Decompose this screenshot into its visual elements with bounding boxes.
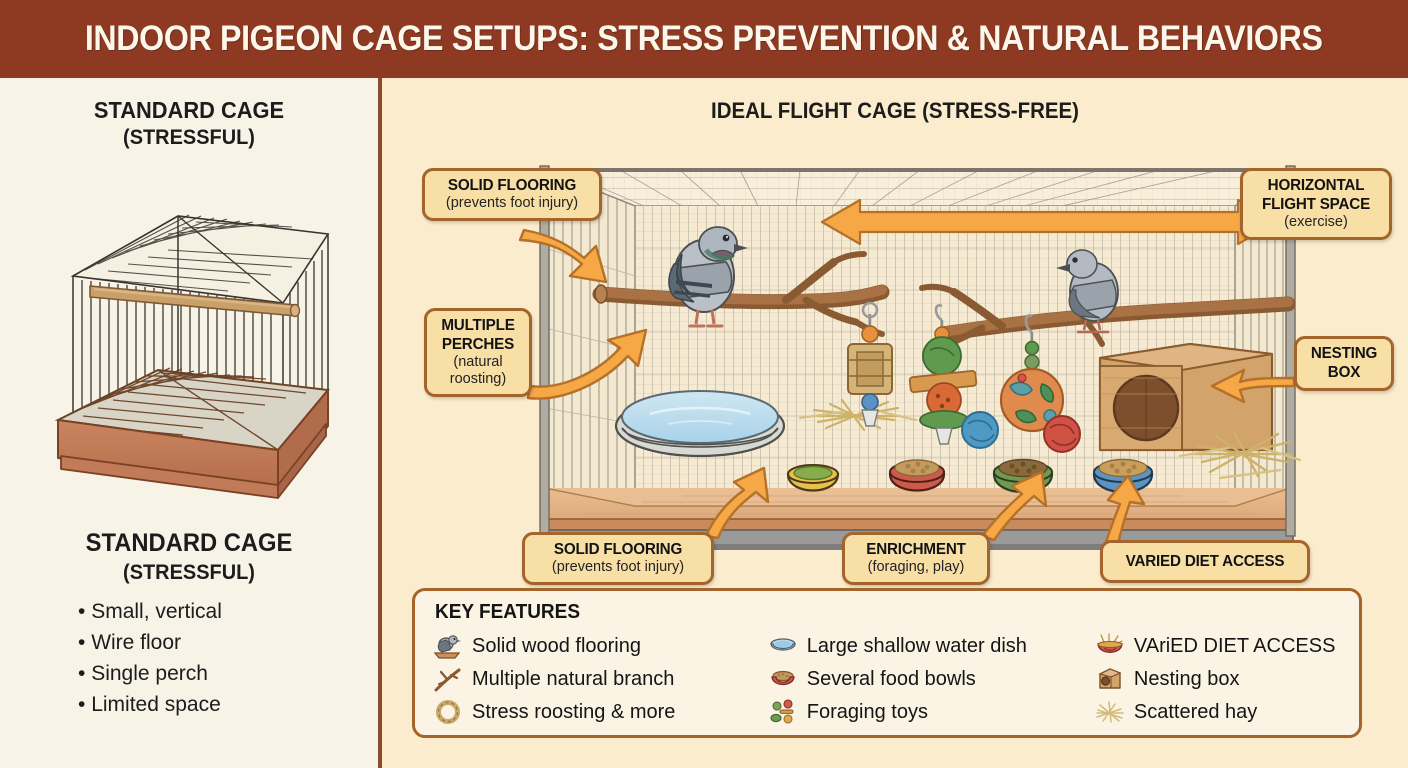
key-features-column-3: VAriED DIET ACCESS Nesting box <box>1095 631 1345 727</box>
key-feature-label: Scattered hay <box>1134 701 1257 724</box>
callout-title: HORIZONTAL FLIGHT SPACE <box>1256 176 1376 214</box>
callout-nesting-box[interactable]: NESTING BOX <box>1294 336 1394 391</box>
key-features-title: KEY FEATURES <box>435 601 580 624</box>
list-item: Large shallow water dish <box>768 631 1095 661</box>
floor-ball-red <box>1044 416 1080 452</box>
pigeon-on-wood-floor-icon <box>433 633 463 659</box>
standard-cage-heading: STANDARD CAGE (STRESSFUL) <box>9 96 368 152</box>
key-feature-label: Solid wood flooring <box>472 635 641 658</box>
list-item: Wire floor <box>78 627 378 658</box>
floor-ball-blue <box>962 412 998 448</box>
standard-cage-caption-line1: STANDARD CAGE <box>9 528 368 558</box>
callout-title: NESTING BOX <box>1309 344 1379 382</box>
food-bowl-red <box>890 460 944 491</box>
callout-varied-diet-access[interactable]: VARIED DIET ACCESS <box>1100 540 1310 583</box>
standard-cage-heading-line2: (STRESSFUL) <box>9 124 368 152</box>
callout-solid-flooring-bottom[interactable]: SOLID FLOORING (prevents foot injury) <box>522 532 714 585</box>
list-item: Foraging toys <box>768 697 1095 727</box>
callout-subtitle: (foraging, play) <box>855 559 977 576</box>
callout-title: VARIED DIET ACCESS <box>1118 552 1293 571</box>
food-bowl-green <box>994 460 1052 493</box>
page-title: INDOOR PIGEON CAGE SETUPS: STRESS PREVEN… <box>85 19 1323 59</box>
standard-cage-caption-line2: (STRESSFUL) <box>9 558 368 588</box>
standard-cage-illustration <box>28 158 358 508</box>
list-item: Multiple natural branch <box>433 664 768 694</box>
callout-subtitle: (prevents foot injury) <box>535 559 701 576</box>
callout-enrichment[interactable]: ENRICHMENT (foraging, play) <box>842 532 990 585</box>
list-item: Scattered hay <box>1095 697 1345 727</box>
callout-horizontal-flight-space[interactable]: HORIZONTAL FLIGHT SPACE (exercise) <box>1240 168 1392 240</box>
callout-subtitle: (natural roosting) <box>437 354 519 388</box>
rope-ring-icon <box>433 699 463 725</box>
food-bowl-yellow <box>788 465 838 491</box>
key-features-column-1: Solid wood flooring Multiple natural bra… <box>433 631 768 727</box>
list-item: Small, vertical <box>78 596 378 627</box>
hay-icon <box>1095 699 1125 725</box>
callout-title: MULTIPLE PERCHES <box>439 316 517 354</box>
mixed-food-bowl-icon <box>1095 633 1125 659</box>
list-item: Nesting box <box>1095 664 1345 694</box>
water-dish <box>616 391 784 456</box>
list-item: Several food bowls <box>768 664 1095 694</box>
key-features-columns: Solid wood flooring Multiple natural bra… <box>433 631 1345 727</box>
list-item: Solid wood flooring <box>433 631 768 661</box>
list-item: VAriED DIET ACCESS <box>1095 631 1345 661</box>
key-feature-label: Several food bowls <box>807 668 976 691</box>
flight-cage-illustration <box>382 78 1408 518</box>
key-feature-label: Multiple natural branch <box>472 668 674 691</box>
foraging-toy-icon <box>768 699 798 725</box>
key-feature-label: VAriED DIET ACCESS <box>1134 635 1336 658</box>
callout-title: ENRICHMENT <box>858 540 974 559</box>
branch-icon <box>433 666 463 692</box>
standard-cage-bullet-list: Small, vertical Wire floor Single perch … <box>78 596 378 720</box>
infographic-root: INDOOR PIGEON CAGE SETUPS: STRESS PREVEN… <box>0 0 1408 768</box>
callout-multiple-perches[interactable]: MULTIPLE PERCHES (natural roosting) <box>424 308 532 397</box>
standard-cage-heading-line1: STANDARD CAGE <box>9 96 368 124</box>
list-item: Stress roosting & more <box>433 697 768 727</box>
key-features-column-2: Large shallow water dish Several food bo… <box>768 631 1095 727</box>
list-item: Single perch <box>78 658 378 689</box>
callout-solid-flooring-top[interactable]: SOLID FLOORING (prevents foot injury) <box>422 168 602 221</box>
water-dish-icon <box>768 633 798 659</box>
key-features-box: KEY FEATURES Solid wood flooring <box>412 588 1362 738</box>
standard-cage-panel: STANDARD CAGE (STRESSFUL) <box>0 78 378 768</box>
food-bowl-icon <box>768 666 798 692</box>
nest-box <box>1100 344 1272 450</box>
standard-cage-caption: STANDARD CAGE (STRESSFUL) <box>9 528 368 588</box>
list-item: Limited space <box>78 689 378 720</box>
nest-box-icon <box>1095 666 1125 692</box>
callout-subtitle: (exercise) <box>1253 214 1379 231</box>
key-feature-label: Nesting box <box>1134 668 1240 691</box>
food-bowl-blue <box>1094 460 1152 493</box>
callout-title: SOLID FLOORING <box>439 176 585 195</box>
callout-subtitle: (prevents foot injury) <box>435 195 589 212</box>
key-feature-label: Large shallow water dish <box>807 635 1027 658</box>
key-feature-label: Stress roosting & more <box>472 701 675 724</box>
callout-title: SOLID FLOORING <box>539 540 697 559</box>
header-banner: INDOOR PIGEON CAGE SETUPS: STRESS PREVEN… <box>0 0 1408 78</box>
key-feature-label: Foraging toys <box>807 701 928 724</box>
